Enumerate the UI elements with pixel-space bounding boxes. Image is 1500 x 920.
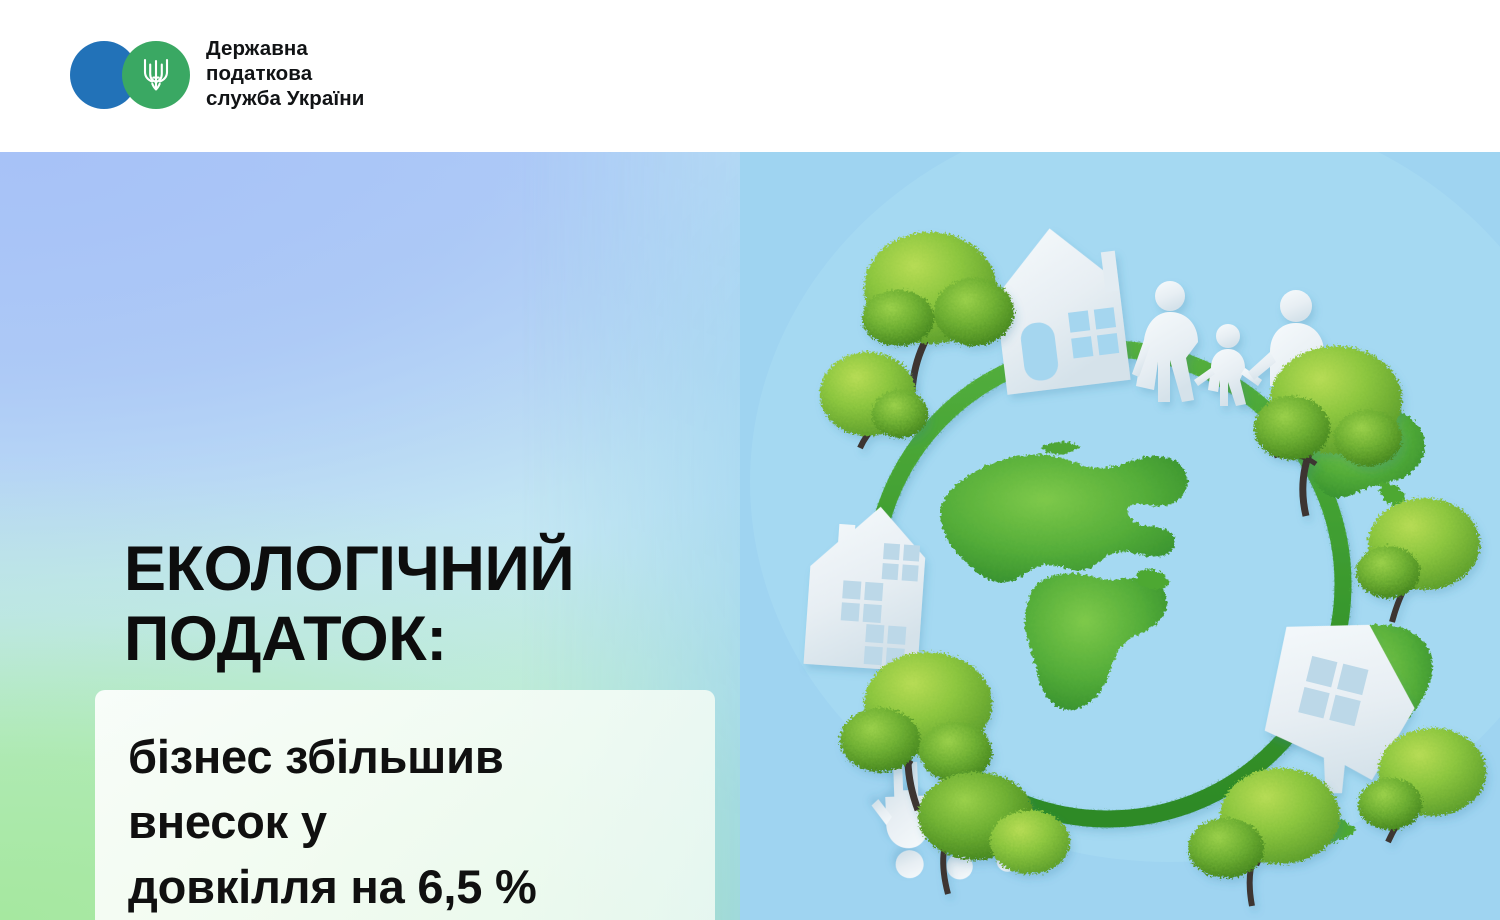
eco-globe-svg xyxy=(740,152,1500,920)
subtitle-text: бізнес збільшив внесок у довкілля на 6,5… xyxy=(128,724,688,919)
subtitle-card: бізнес збільшив внесок у довкілля на 6,5… xyxy=(95,690,715,920)
eco-globe-illustration xyxy=(740,152,1500,920)
gradient-canvas: ЕКОЛОГІЧНИЙ ПОДАТОК: бізнес збільшив вне… xyxy=(0,152,1500,920)
organization-logo[interactable]: Державна податкова служба України xyxy=(70,36,364,111)
header-bar: Державна податкова служба України xyxy=(0,0,1500,152)
page-title: ЕКОЛОГІЧНИЙ ПОДАТОК: xyxy=(124,534,574,674)
ukraine-trident-emblem-icon xyxy=(140,55,172,95)
organization-name: Державна податкова служба України xyxy=(206,36,364,111)
poster-root: Державна податкова служба України xyxy=(0,0,1500,920)
logo-marks xyxy=(70,37,200,111)
